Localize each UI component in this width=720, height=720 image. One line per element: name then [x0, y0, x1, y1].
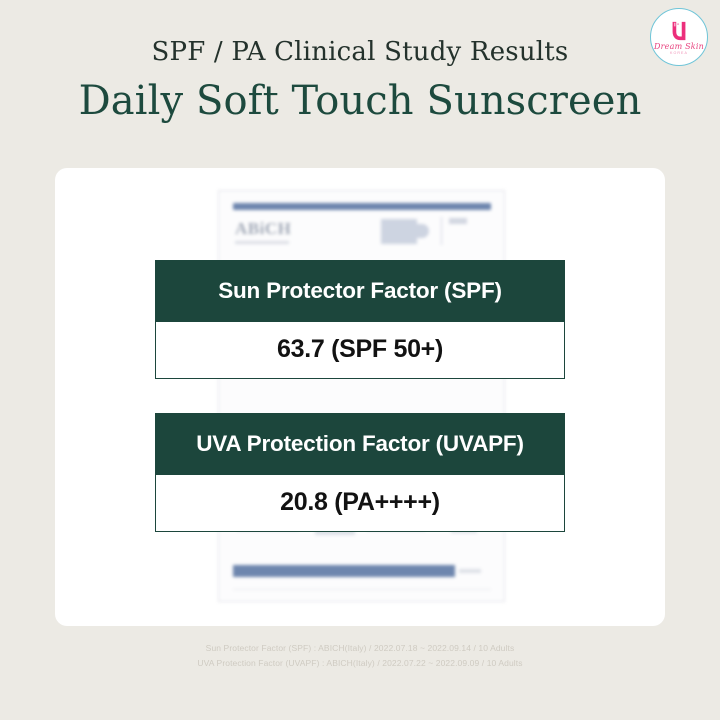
result-table-uvapf: UVA Protection Factor (UVAPF) 20.8 (PA++…: [155, 413, 565, 532]
result-label: UVA Protection Factor (UVAPF): [155, 413, 565, 475]
result-value: 63.7 (SPF 50+): [155, 322, 565, 379]
kicker-text: SPF / PA Clinical Study Results: [0, 36, 720, 68]
certificate-code-block: [449, 218, 467, 224]
certificate-top-bar: [233, 203, 491, 210]
certificate-bottom-bar: [233, 565, 455, 577]
page-title: Daily Soft Touch Sunscreen: [0, 74, 720, 128]
certificate-rule: [233, 589, 491, 590]
certificate-stamp-block: [381, 219, 417, 244]
certificate-stamp-tail: [417, 224, 429, 238]
certificate-lab-logo: ABiCH: [235, 219, 291, 239]
certificate-divider: [441, 217, 442, 245]
footnote-uvapf: UVA Protection Factor (UVAPF) : ABICH(It…: [0, 656, 720, 671]
result-label: Sun Protector Factor (SPF): [155, 260, 565, 322]
certificate-footer-value: [459, 569, 481, 573]
footnote-spf: Sun Protector Factor (SPF) : ABICH(Italy…: [0, 641, 720, 656]
result-table-spf: Sun Protector Factor (SPF) 63.7 (SPF 50+…: [155, 260, 565, 379]
result-value: 20.8 (PA++++): [155, 475, 565, 532]
footnotes-block: Sun Protector Factor (SPF) : ABICH(Italy…: [0, 641, 720, 671]
results-panel: ABiCH Sun Protector Factor (SPF) 63.7 (S…: [55, 168, 665, 626]
results-list: Sun Protector Factor (SPF) 63.7 (SPF 50+…: [155, 260, 565, 566]
certificate-lab-sublogo: [235, 241, 289, 244]
title-block: SPF / PA Clinical Study Results Daily So…: [0, 36, 720, 128]
